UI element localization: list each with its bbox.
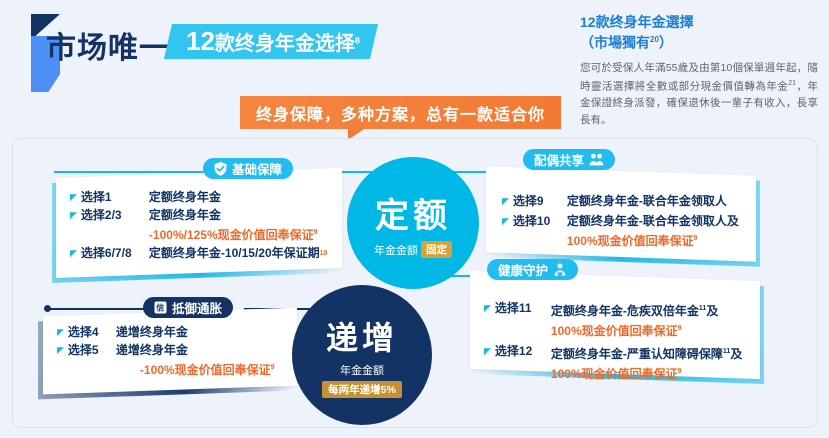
option-sub-superscript: 9 [678, 368, 682, 375]
option-row: ◤ 选择11 定额终身年金-危疾双倍年金11及 100%现金价值回奉保证9 [484, 300, 760, 340]
option-label: 选择12 [495, 343, 551, 360]
header-band-number: 12 [186, 26, 215, 56]
circle-fixed: 定额 年金金额 固定 [347, 157, 479, 289]
arrow-icon: ◤ [484, 343, 491, 360]
page-title: 市场唯一2 [46, 23, 177, 67]
arrow-icon: ◤ [484, 300, 491, 317]
circle-fixed-title: 定额 [375, 188, 451, 237]
arrow-icon: ◤ [57, 342, 64, 359]
option-desc: 定额终身年金 [149, 208, 221, 222]
info-heading-line1: 12款终身年金選擇 [580, 14, 694, 30]
option-row: ◤ 选择5 递增终身年金 -100%现金价值回奉保证9 [57, 342, 297, 379]
option-desc: 递增终身年金 [116, 324, 188, 341]
connector-dot [44, 305, 51, 312]
option-desc: 定额终身年金 [149, 189, 221, 206]
person-heart-icon [553, 263, 567, 277]
option-label: 选择4 [68, 324, 116, 341]
badge-basic-label: 基础保障 [232, 159, 282, 178]
info-body-pre: 您可於受保人年滿55歲及由第10個保單週年起，隨時靈活選擇將全數或部分現金價值轉… [580, 62, 818, 93]
option-desc: 定额终身年金-10/15/20年保证期 [149, 245, 320, 262]
info-heading-line2-post: ） [659, 35, 673, 51]
option-row: ◤ 选择9 定额终身年金-联合年金领取人 [502, 193, 756, 210]
option-label: 选择10 [513, 213, 567, 230]
option-row: ◤ 选择10 定额终身年金-联合年金领取人及 100%现金价值回奉保证9 [502, 213, 756, 250]
couple-icon [589, 153, 604, 166]
badge-spouse-label: 配偶共享 [534, 150, 584, 169]
option-desc-post: 及 [730, 347, 742, 361]
option-sub: -100%现金价值回奉保证 [140, 362, 271, 379]
circle-increasing-caption-wrap: 年金金额 每两年递增5% [322, 362, 402, 398]
option-sub: 100%现金价值回奉保证 [567, 234, 694, 248]
info-heading: 12款终身年金選擇 （市場獨有20） [580, 14, 818, 52]
option-desc: 定额终身年金-严重认知障碍保障 [551, 347, 723, 361]
panel-spouse: ◤ 选择9 定额终身年金-联合年金领取人 ◤ 选择10 定额终身年金-联合年金领… [486, 166, 756, 261]
circle-increasing-tag: 每两年递增5% [322, 381, 402, 398]
circle-increasing-title: 递增 [326, 313, 398, 359]
option-row: ◤ 选择4 递增终身年金 [57, 324, 297, 341]
circle-increasing-caption: 年金金额 [340, 362, 384, 378]
info-body: 您可於受保人年滿55歲及由第10個保單週年起，隨時靈活選擇將全數或部分現金價值轉… [580, 60, 818, 129]
infographic-root: 市场唯一2 12款终身年金选择8 终身保障，多种方案，总有一款适合你 12款终身… [0, 0, 829, 438]
option-label: 选择1 [81, 189, 149, 206]
arrow-icon: ◤ [70, 207, 77, 224]
option-sub-superscript: 9 [271, 364, 275, 371]
badge-inflation-label: 抵御通胀 [172, 298, 222, 317]
option-desc: 定额终身年金-危疾双倍年金 [551, 304, 699, 318]
option-desc: 定额终身年金-联合年金领取人及 [567, 214, 739, 228]
page-title-text: 市场唯一 [46, 32, 170, 65]
circle-increasing: 递增 年金金额 每两年递增5% [292, 285, 432, 425]
option-sub: 100%现金价值回奉保证 [551, 367, 678, 381]
option-sub-superscript: 9 [678, 325, 682, 332]
svg-text:信: 信 [156, 303, 164, 313]
tagline-text: 终身保障，多种方案，总有一款适合你 [256, 101, 545, 125]
badge-inflation: 信 抵御通胀 [143, 297, 233, 318]
arrow-icon: ◤ [57, 324, 64, 341]
info-heading-superscript: 20 [650, 35, 659, 44]
tagline-ribbon: 终身保障，多种方案，总有一款适合你 [240, 96, 561, 129]
option-sub: 100%现金价值回奉保证 [551, 324, 678, 338]
panel-health: ◤ 选择11 定额终身年金-危疾双倍年金11及 100%现金价值回奉保证9 ◤ … [470, 271, 760, 379]
option-desc: 定额终身年金-联合年金领取人 [567, 193, 727, 210]
arrow-icon: ◤ [502, 213, 509, 230]
badge-spouse: 配偶共享 [523, 149, 615, 170]
badge-health-label: 健康守护 [498, 260, 548, 279]
option-desc-post: 及 [706, 304, 718, 318]
option-row: ◤ 选择2/3 定额终身年金 -100%/125%现金价值回奉保证9 [70, 207, 342, 244]
info-body-superscript: 21 [788, 80, 796, 87]
option-row: ◤ 选择12 定额终身年金-严重认知障碍保障11及 100%现金价值回奉保证9 [484, 343, 760, 383]
circle-fixed-caption-wrap: 年金金额 固定 [374, 241, 452, 258]
option-label: 选择6/7/8 [81, 245, 149, 262]
header-band: 12款终身年金选择8 [164, 24, 378, 59]
option-label: 选择11 [495, 300, 551, 317]
inflation-icon: 信 [154, 301, 167, 314]
info-block: 12款终身年金選擇 （市場獨有20） 您可於受保人年滿55歲及由第10個保單週年… [580, 14, 818, 128]
circle-fixed-tag: 固定 [421, 241, 452, 258]
circle-fixed-caption: 年金金额 [374, 242, 418, 258]
option-label: 选择2/3 [81, 207, 149, 224]
badge-basic: 基础保障 [203, 158, 293, 179]
option-sub: -100%/125%现金价值回奉保证 [149, 228, 314, 242]
option-desc: 递增终身年金 [116, 343, 188, 357]
arrow-icon: ◤ [70, 245, 77, 262]
info-heading-line2-pre: （市場獨有 [580, 35, 650, 51]
arrow-icon: ◤ [70, 189, 77, 206]
option-desc-superscript: 10 [320, 245, 328, 262]
header-band-superscript: 8 [355, 36, 360, 46]
panel-inflation: ◤ 选择4 递增终身年金 ◤ 选择5 递增终身年金 -100%现金价值回奉保证9 [43, 308, 297, 395]
option-label: 选择5 [68, 342, 116, 359]
option-row: ◤ 选择1 定额终身年金 [70, 189, 342, 206]
option-sub-superscript: 9 [314, 229, 318, 236]
option-row: ◤ 选择6/7/8 定额终身年金-10/15/20年保证期10 [70, 245, 342, 262]
badge-health: 健康守护 [487, 259, 578, 280]
panel-basic: ◤ 选择1 定额终身年金 ◤ 选择2/3 定额终身年金 -100%/125%现金… [56, 168, 342, 278]
shield-check-icon [214, 162, 227, 176]
option-label: 选择9 [513, 193, 567, 210]
arrow-icon: ◤ [502, 193, 509, 210]
header-band-text: 款终身年金选择 [215, 33, 355, 55]
option-sub-superscript: 9 [694, 235, 698, 242]
